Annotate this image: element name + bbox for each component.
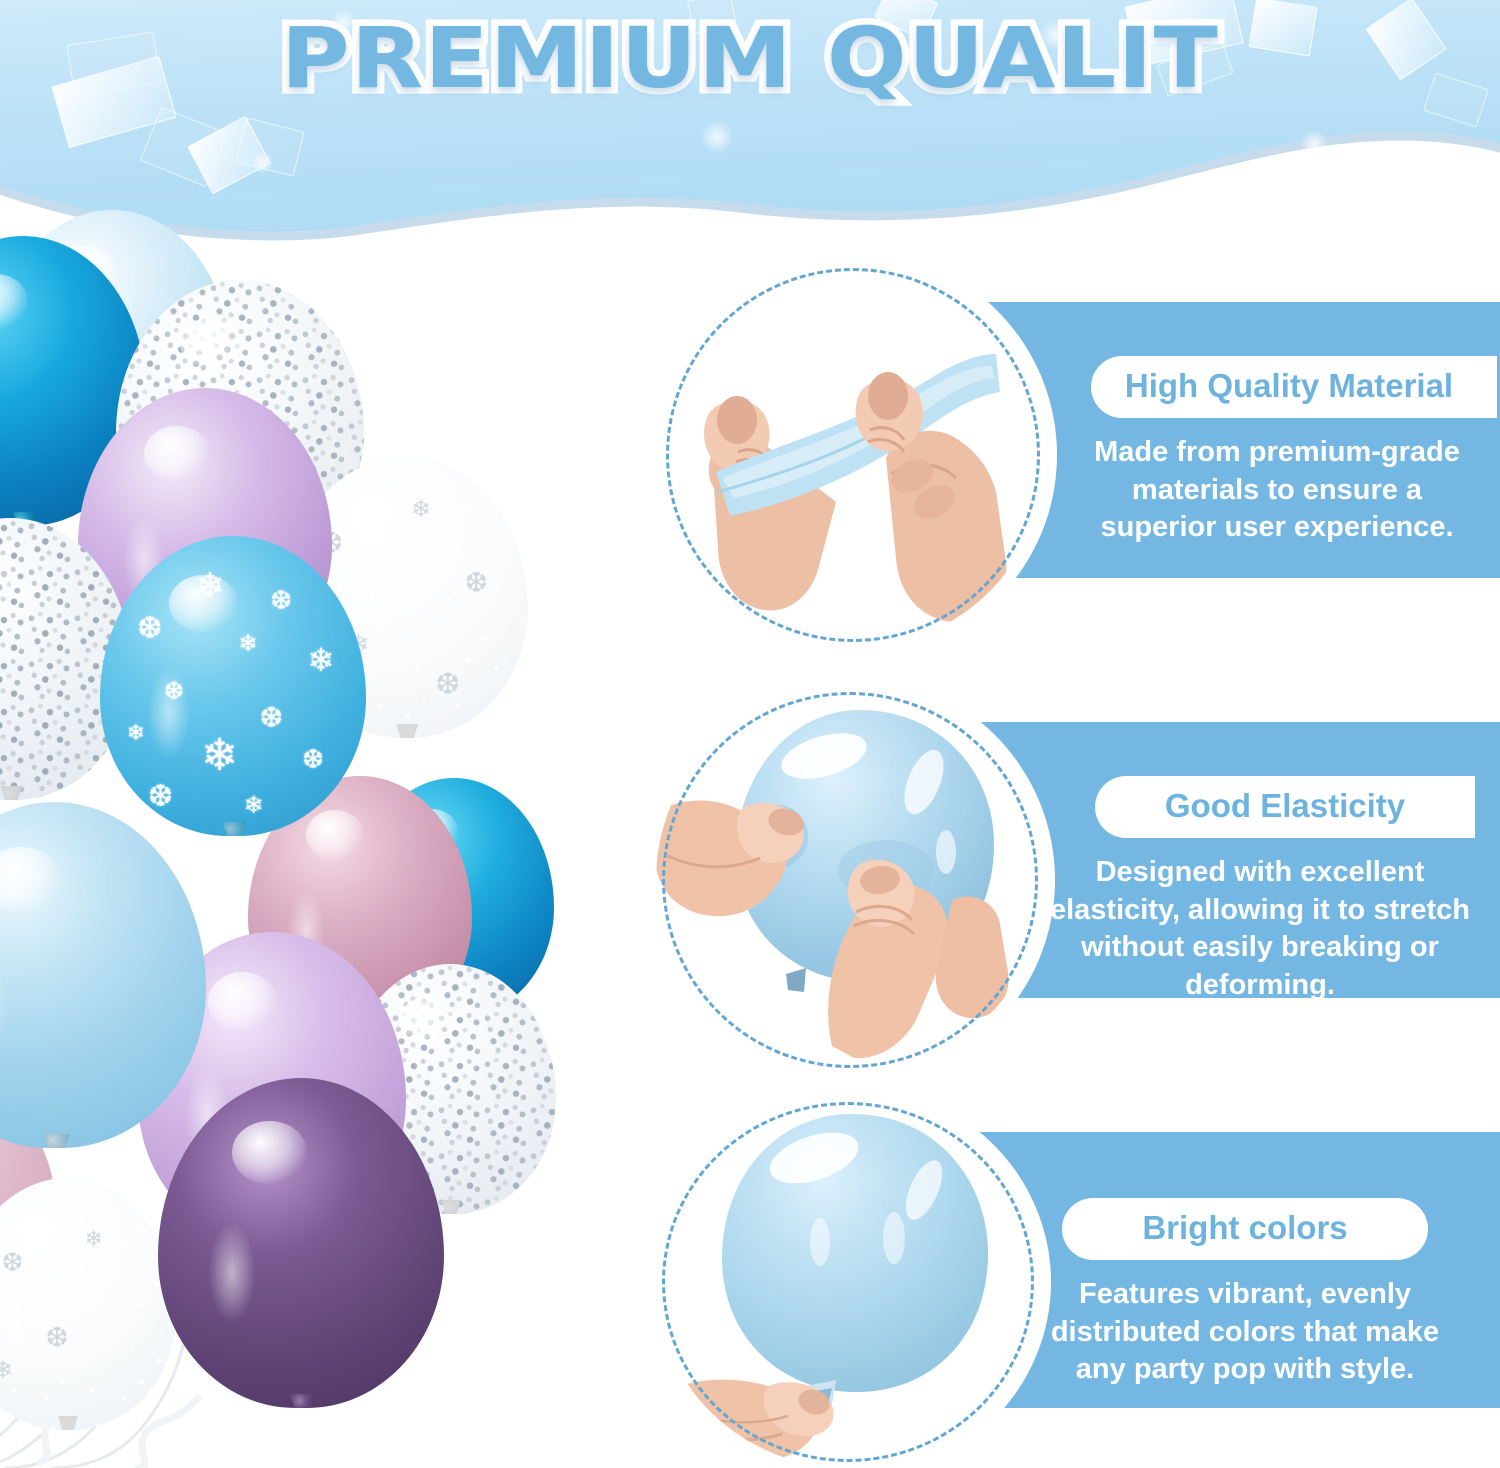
feature-description-good-elasticity: Designed with excellent elasticity, allo… — [1020, 854, 1500, 1005]
feature-text-bright-colors: Bright colors Features vibrant, evenly d… — [1020, 1198, 1470, 1389]
feature-title-good-elasticity: Good Elasticity — [1095, 776, 1475, 838]
hands-pressing-balloon-illustration — [656, 686, 1044, 1074]
header-banner: PREMIUM QUALIT — [0, 0, 1500, 245]
banner-title-wrap: PREMIUM QUALIT — [0, 14, 1500, 102]
feature-text-high-quality-material: High Quality Material Made from premium-… — [1054, 356, 1500, 547]
clear-snowflake-balloon: ❆ ❄ ❆ ❄ — [0, 1178, 176, 1430]
product-infographic: PREMIUM QUALIT — [0, 0, 1500, 1468]
feature-title-bright-colors: Bright colors — [1062, 1198, 1427, 1260]
balloon-bouquet-photo: ❆ ❄ ❆ ❄ ❆ ❄ ❄ ❆ ❆ ❄ ❄ ❆ ❆ ❄ ❄ ❆ ❆ ❄ — [0, 218, 588, 1468]
feature-image-bright-colors — [656, 1096, 1040, 1468]
bokeh-dot — [1300, 130, 1328, 158]
photo-hand-holding-balloon — [656, 1096, 1040, 1468]
feature-text-good-elasticity: Good Elasticity Designed with excellent … — [1020, 776, 1500, 1005]
bokeh-dot — [700, 120, 734, 154]
feature-image-high-quality-material — [660, 262, 1046, 648]
feature-description-bright-colors: Features vibrant, evenly distributed col… — [1020, 1276, 1470, 1389]
photo-hands-stretching-balloon — [660, 262, 1046, 648]
feature-description-high-quality-material: Made from premium-grade materials to ens… — [1054, 434, 1500, 547]
page-title: PREMIUM QUALIT — [281, 14, 1219, 102]
bokeh-dot — [250, 150, 274, 174]
hand-holding-balloon-illustration — [656, 1096, 1040, 1468]
hands-stretching-balloon-illustration — [660, 262, 1046, 648]
feature-image-good-elasticity — [656, 686, 1044, 1074]
photo-hands-pressing-balloon — [656, 686, 1044, 1074]
feature-title-high-quality-material: High Quality Material — [1091, 356, 1497, 418]
